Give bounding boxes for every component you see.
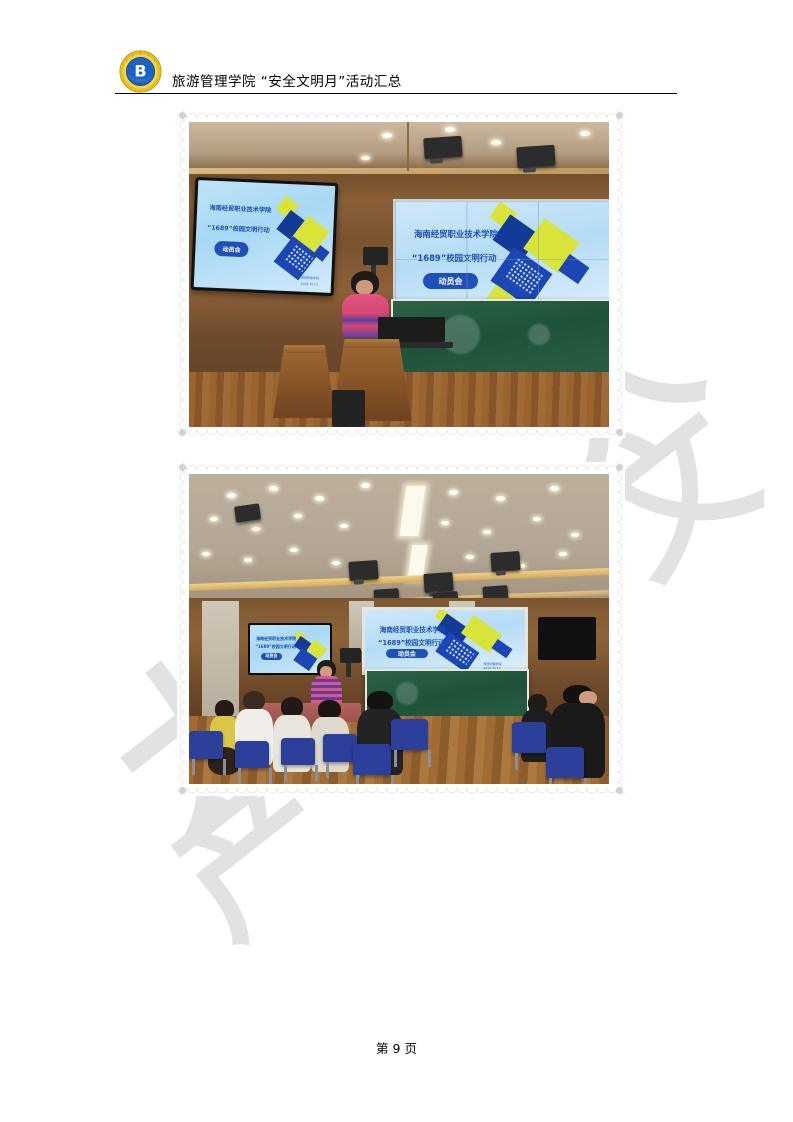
ceiling-projector bbox=[423, 136, 462, 160]
slide-footnote: 2018.10.17 bbox=[301, 282, 318, 287]
ceiling-downlight bbox=[332, 561, 340, 565]
ceiling-downlight bbox=[382, 133, 392, 138]
ceiling-beam bbox=[407, 122, 409, 171]
ceiling-downlight bbox=[445, 127, 455, 132]
chair bbox=[235, 741, 269, 769]
audience-hair bbox=[318, 700, 341, 719]
ceiling-projector bbox=[424, 572, 455, 593]
page-number-label: 第 9 页 bbox=[376, 1041, 417, 1056]
ceiling-downlight bbox=[466, 555, 474, 559]
frame-corner-dot bbox=[179, 464, 186, 471]
ceiling-downlight bbox=[496, 496, 505, 501]
floor-speaker bbox=[332, 390, 366, 427]
left-lcd-monitor: 海南经贸职业技术学院 “1689”校园文明行动 动员会 旅游管理学院 2018.… bbox=[191, 177, 339, 296]
left-monitor-screen: 海南经贸职业技术学院 “1689”校园文明行动 动员会 旅游管理学院 2018.… bbox=[194, 180, 335, 293]
photo-frame-2: 海南经贸职业技术学院 “1689”校园文明行动 动员会 海南经贸职业技术学院 “… bbox=[177, 462, 625, 796]
frame-corner-dot bbox=[616, 464, 623, 471]
chair bbox=[391, 719, 429, 750]
chair bbox=[323, 734, 357, 762]
chair bbox=[353, 744, 391, 775]
photo-frame-1: 海南经贸职业技术学院 “1689”校园文明行动 动员会 旅游管理学院 2018.… bbox=[177, 110, 625, 438]
slide-line-1: 海南经贸职业技术学院 bbox=[256, 636, 296, 642]
slide-line-1: 海南经贸职业技术学院 bbox=[380, 624, 446, 634]
slide-footnote: 旅游管理学院 bbox=[301, 275, 319, 280]
college-emblem-icon: B bbox=[119, 50, 162, 93]
photo-1-image: 海南经贸职业技术学院 “1689”校园文明行动 动员会 旅游管理学院 2018.… bbox=[189, 122, 609, 427]
frame-corner-dot bbox=[179, 112, 186, 119]
audience-hair bbox=[215, 700, 234, 717]
presenter-laptop bbox=[378, 317, 445, 341]
chair bbox=[512, 722, 546, 753]
ceiling-projector bbox=[491, 550, 522, 571]
video-camera bbox=[363, 247, 388, 265]
audience-hair bbox=[281, 697, 304, 716]
ceiling-projector bbox=[516, 145, 555, 169]
slide-badge: 动员会 bbox=[261, 653, 282, 660]
svg-text:B: B bbox=[134, 62, 146, 81]
page-title: 旅游管理学院 “安全文明月”活动汇总 bbox=[172, 70, 402, 90]
audience-hair bbox=[528, 694, 547, 712]
slide-line-2: “1689”校园文明行动 bbox=[207, 222, 270, 234]
audience-hair bbox=[367, 691, 393, 711]
ceiling-downlight bbox=[441, 521, 449, 525]
ceiling-downlight bbox=[559, 552, 567, 556]
audience-hair bbox=[243, 691, 266, 710]
ceiling-downlight bbox=[252, 527, 260, 531]
chair bbox=[546, 747, 584, 778]
chalk-smudge bbox=[528, 324, 550, 345]
ceiling-downlight bbox=[571, 533, 579, 537]
slide-line-1: 海南经贸职业技术学院 bbox=[209, 203, 271, 215]
video-camera bbox=[340, 648, 361, 664]
ceiling-downlight bbox=[449, 490, 458, 495]
slide-artwork: 海南经贸职业技术学院 “1689”校园文明行动 动员会 旅游管理学院 2018.… bbox=[194, 180, 335, 293]
ceiling-downlight bbox=[227, 493, 236, 498]
slide-line-2: “1689”校园文明行动 bbox=[378, 637, 445, 647]
frame-corner-dot bbox=[179, 429, 186, 436]
slide-badge: 动员会 bbox=[386, 649, 427, 658]
ceiling-downlight bbox=[340, 524, 348, 528]
page-header: B 旅游管理学院 “安全文明月”活动汇总 bbox=[0, 0, 793, 100]
frame-corner-dot bbox=[179, 787, 186, 794]
ceiling bbox=[189, 474, 609, 610]
right-lcd-monitor bbox=[538, 617, 597, 660]
main-projection-screen: 海南经贸职业技术学院 “1689”校园文明行动 动员会 旅游管理学院 2018.… bbox=[365, 610, 525, 672]
frame-corner-dot bbox=[616, 429, 623, 436]
chair bbox=[281, 738, 315, 766]
ceiling-projector bbox=[348, 560, 379, 581]
slide-line-2: “1689”校园文明行动 bbox=[255, 644, 295, 650]
ceiling-downlight bbox=[580, 131, 590, 136]
ceiling-light-cove bbox=[189, 168, 609, 174]
chalk-smudge bbox=[441, 315, 480, 355]
slide-badge: 动员会 bbox=[214, 241, 249, 257]
ceiling-downlight bbox=[361, 156, 370, 160]
ceiling-downlight bbox=[244, 558, 252, 562]
chair bbox=[189, 731, 223, 759]
ceiling-downlight bbox=[315, 496, 324, 501]
ceiling-downlight bbox=[202, 552, 210, 556]
slide-artwork: 海南经贸职业技术学院 “1689”校园文明行动 动员会 旅游管理学院 2018.… bbox=[365, 610, 525, 672]
ceiling-downlight bbox=[483, 530, 491, 534]
frame-corner-dot bbox=[616, 787, 623, 794]
page-footer: 第 9 页 bbox=[0, 1038, 793, 1057]
header-divider bbox=[115, 93, 677, 94]
photo-2-image: 海南经贸职业技术学院 “1689”校园文明行动 动员会 海南经贸职业技术学院 “… bbox=[189, 474, 609, 784]
frame-corner-dot bbox=[616, 112, 623, 119]
